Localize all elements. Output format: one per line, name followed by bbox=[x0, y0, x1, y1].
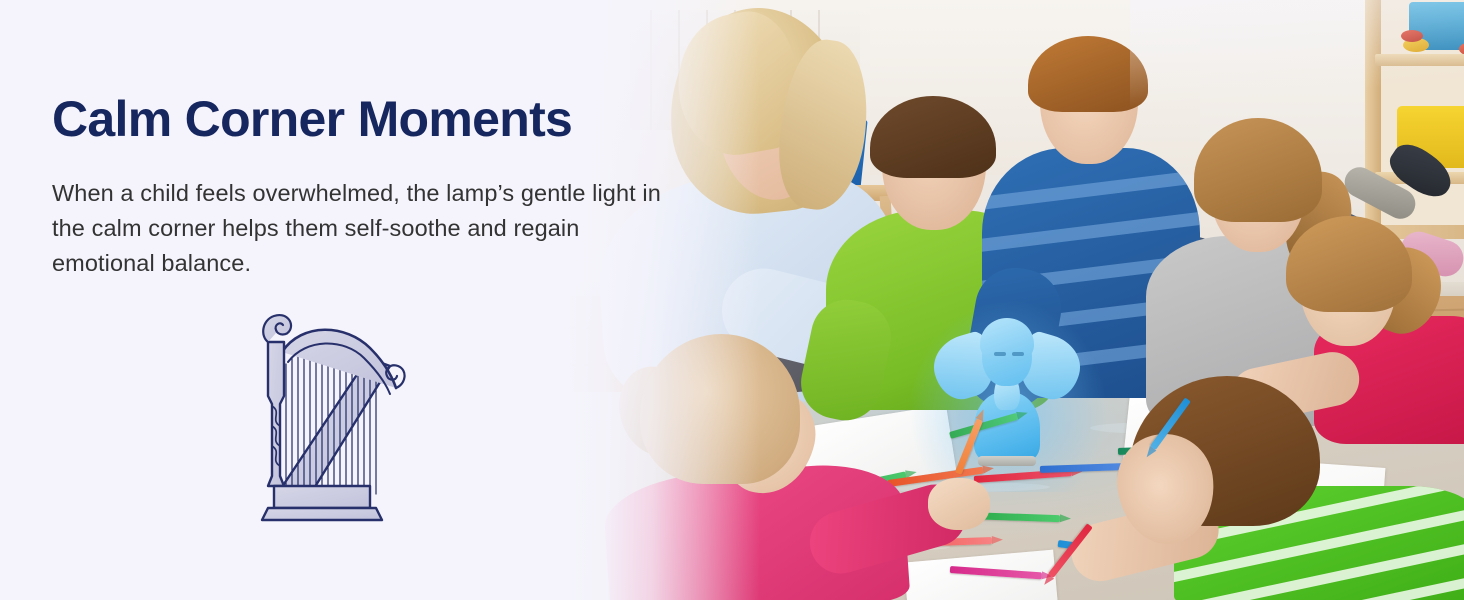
text-panel: Calm Corner Moments When a child feels o… bbox=[0, 0, 700, 600]
page-title: Calm Corner Moments bbox=[52, 90, 572, 148]
page-description: When a child feels overwhelmed, the lamp… bbox=[52, 176, 677, 281]
harp-icon bbox=[250, 300, 410, 525]
calm-corner-banner: Calm Corner Moments When a child feels o… bbox=[0, 0, 1464, 600]
photo-top-fade bbox=[1130, 0, 1464, 120]
